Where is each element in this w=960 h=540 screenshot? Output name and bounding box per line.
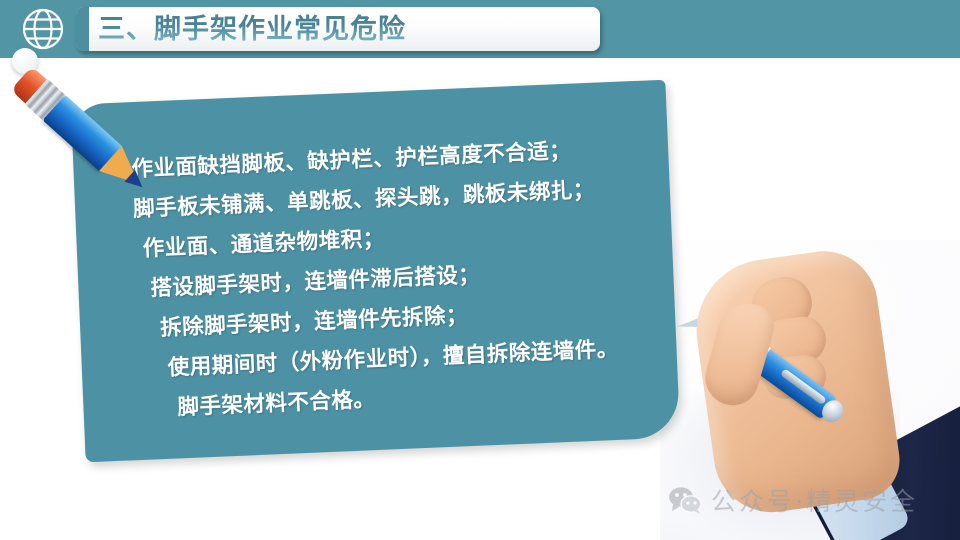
- title-plate: 三、脚手架作业常见危险: [76, 7, 600, 51]
- page-title: 三、脚手架作业常见危险: [98, 7, 406, 51]
- watermark-text: 公众号·精灵安全: [711, 482, 918, 518]
- slide-canvas: 三、脚手架作业常见危险 公众号·精灵安全: [0, 0, 960, 540]
- globe-icon: [22, 8, 64, 50]
- wechat-icon: [668, 486, 702, 514]
- watermark: 公众号·精灵安全: [668, 482, 918, 518]
- title-accent-bar: [76, 7, 89, 51]
- hazard-list: 作业面缺挡脚板、缺护栏、护栏高度不合适； 脚手板未铺满、单跳板、探头跳，跳板未绑…: [131, 129, 657, 430]
